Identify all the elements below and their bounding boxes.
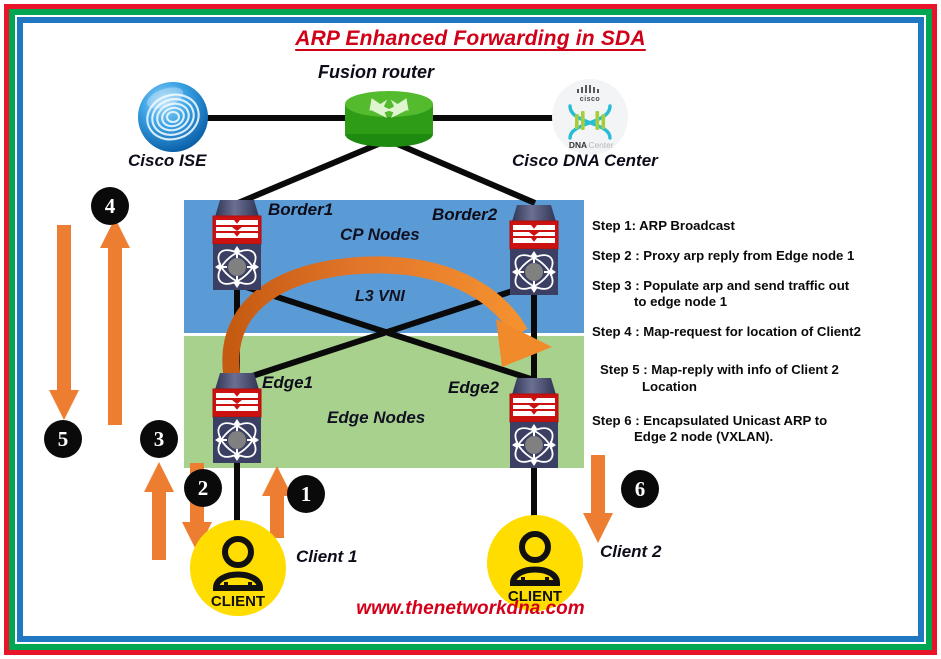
border2-label: Border2 <box>432 205 497 225</box>
edge2-switch-icon <box>507 378 561 468</box>
step-item-5: Step 5 : Map-reply with info of Client 2… <box>592 362 932 394</box>
edge1-label: Edge1 <box>262 373 313 393</box>
steps-list: Step 1: ARP Broadcast Step 2 : Proxy arp… <box>592 218 932 459</box>
arrow-6 <box>583 455 613 543</box>
page-title: ARP Enhanced Forwarding in SDA <box>0 27 941 51</box>
cisco-ise-label: Cisco ISE <box>128 151 206 171</box>
website-watermark: www.thenetworkdna.com <box>0 598 941 620</box>
step-1-line1: Step 1: ARP Broadcast <box>592 218 735 233</box>
step-item-4: Step 4 : Map-request for location of Cli… <box>592 324 932 340</box>
step-6-line1: Step 6 : Encapsulated Unicast ARP to <box>592 413 827 428</box>
cp-nodes-label: CP Nodes <box>340 225 420 245</box>
step-2-line1: Step 2 : Proxy arp reply from Edge node … <box>592 248 854 263</box>
step-badge-2: 2 <box>184 469 222 507</box>
fusion-router-label: Fusion router <box>318 62 434 83</box>
border2-switch-icon <box>507 205 561 295</box>
cisco-dna-center-icon: cisco DNA Center <box>551 78 629 156</box>
cisco-ise-icon <box>136 80 210 154</box>
step-4-line1: Step 4 : Map-request for location of Cli… <box>592 324 861 339</box>
step-item-1: Step 1: ARP Broadcast <box>592 218 932 234</box>
cisco-dna-center-label: Cisco DNA Center <box>512 151 658 171</box>
fusion-router-icon <box>340 88 438 150</box>
step-badge-3: 3 <box>140 420 178 458</box>
step-item-6: Step 6 : Encapsulated Unicast ARP to Edg… <box>592 413 932 445</box>
border1-label: Border1 <box>268 200 333 220</box>
svg-text:DNA: DNA <box>569 140 587 150</box>
step-badge-4: 4 <box>91 187 129 225</box>
step-item-3: Step 3 : Populate arp and send traffic o… <box>592 278 932 310</box>
arrow-5 <box>49 225 79 420</box>
step-item-2: Step 2 : Proxy arp reply from Edge node … <box>592 248 932 264</box>
edge2-label: Edge2 <box>448 378 499 398</box>
step-badge-5: 5 <box>44 420 82 458</box>
client2-label: Client 2 <box>600 542 661 562</box>
step-6-line2: Edge 2 node (VXLAN). <box>592 429 932 445</box>
border1-switch-icon <box>210 200 264 290</box>
svg-text:cisco: cisco <box>580 96 600 103</box>
edge1-switch-icon <box>210 373 264 463</box>
step-5-line2: Location <box>600 379 932 395</box>
client1-label: Client 1 <box>296 547 357 567</box>
svg-text:Center: Center <box>588 140 613 150</box>
step-3-line1: Step 3 : Populate arp and send traffic o… <box>592 278 849 293</box>
client2-icon: CLIENT <box>487 515 583 611</box>
step-5-line1: Step 5 : Map-reply with info of Client 2 <box>600 362 839 377</box>
step-3-line2: to edge node 1 <box>592 294 932 310</box>
arrow-4 <box>100 218 130 425</box>
step-badge-6: 6 <box>621 470 659 508</box>
step-badge-1: 1 <box>287 475 325 513</box>
edge-nodes-label: Edge Nodes <box>327 408 425 428</box>
arrow-3 <box>144 462 174 560</box>
l3-vni-label: L3 VNI <box>355 288 405 306</box>
diagram-canvas: ARP Enhanced Forwarding in SDA Fusion ro… <box>0 0 941 659</box>
